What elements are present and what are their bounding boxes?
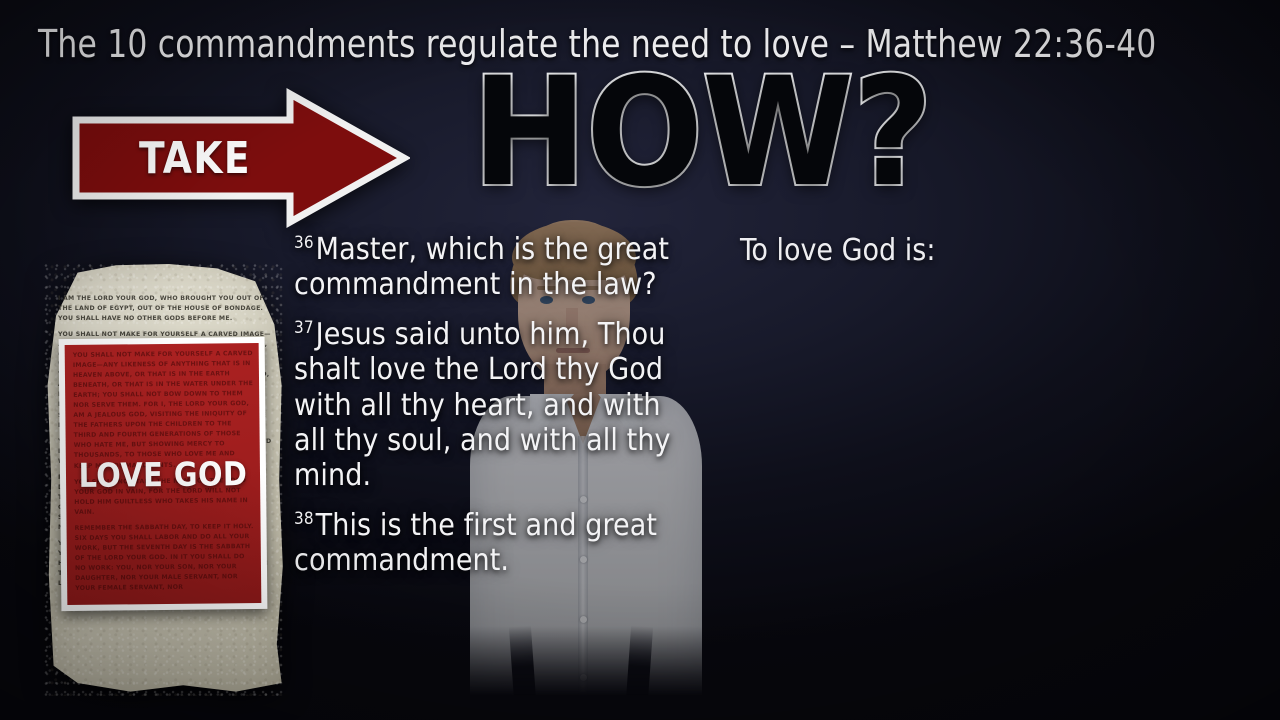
verse-36-number: 36 — [294, 233, 314, 253]
love-god-card-inner: YOU SHALL NOT MAKE FOR YOURSELF A CARVED… — [65, 343, 262, 605]
verse-38-text: This is the first and great commandment. — [294, 508, 657, 578]
slide-canvas: The 10 commandments regulate the need to… — [0, 0, 1280, 720]
headline-how: HOW? — [472, 58, 932, 208]
scripture-block: 36Master, which is the great commandment… — [294, 232, 694, 593]
presenter-shirt-button — [580, 616, 587, 623]
take-arrow-icon — [70, 88, 410, 228]
presenter-shirt-button — [580, 674, 587, 681]
love-god-label: LOVE GOD — [78, 454, 247, 495]
verse-37: 37Jesus said unto him, Thou shalt love t… — [294, 317, 694, 494]
stone-tablet: I AM THE LORD YOUR GOD, WHO BROUGHT YOU … — [44, 264, 284, 696]
verse-36: 36Master, which is the great commandment… — [294, 232, 694, 303]
slide-title: The 10 commandments regulate the need to… — [38, 22, 1142, 66]
verse-38: 38This is the first and great commandmen… — [294, 508, 694, 579]
love-god-card: YOU SHALL NOT MAKE FOR YOURSELF A CARVED… — [59, 337, 268, 611]
right-note: To love God is: — [740, 233, 935, 268]
verse-38-number: 38 — [294, 509, 314, 529]
verse-37-text: Jesus said unto him, Thou shalt love the… — [294, 317, 671, 494]
card-commandment-4a: REMEMBER THE SABBATH DAY, TO KEEP IT HOL… — [75, 522, 256, 594]
tablet-commandment-1: I AM THE LORD YOUR GOD, WHO BROUGHT YOU … — [58, 294, 272, 324]
verse-36-text: Master, which is the great commandment i… — [294, 232, 669, 302]
verse-37-number: 37 — [294, 318, 314, 338]
